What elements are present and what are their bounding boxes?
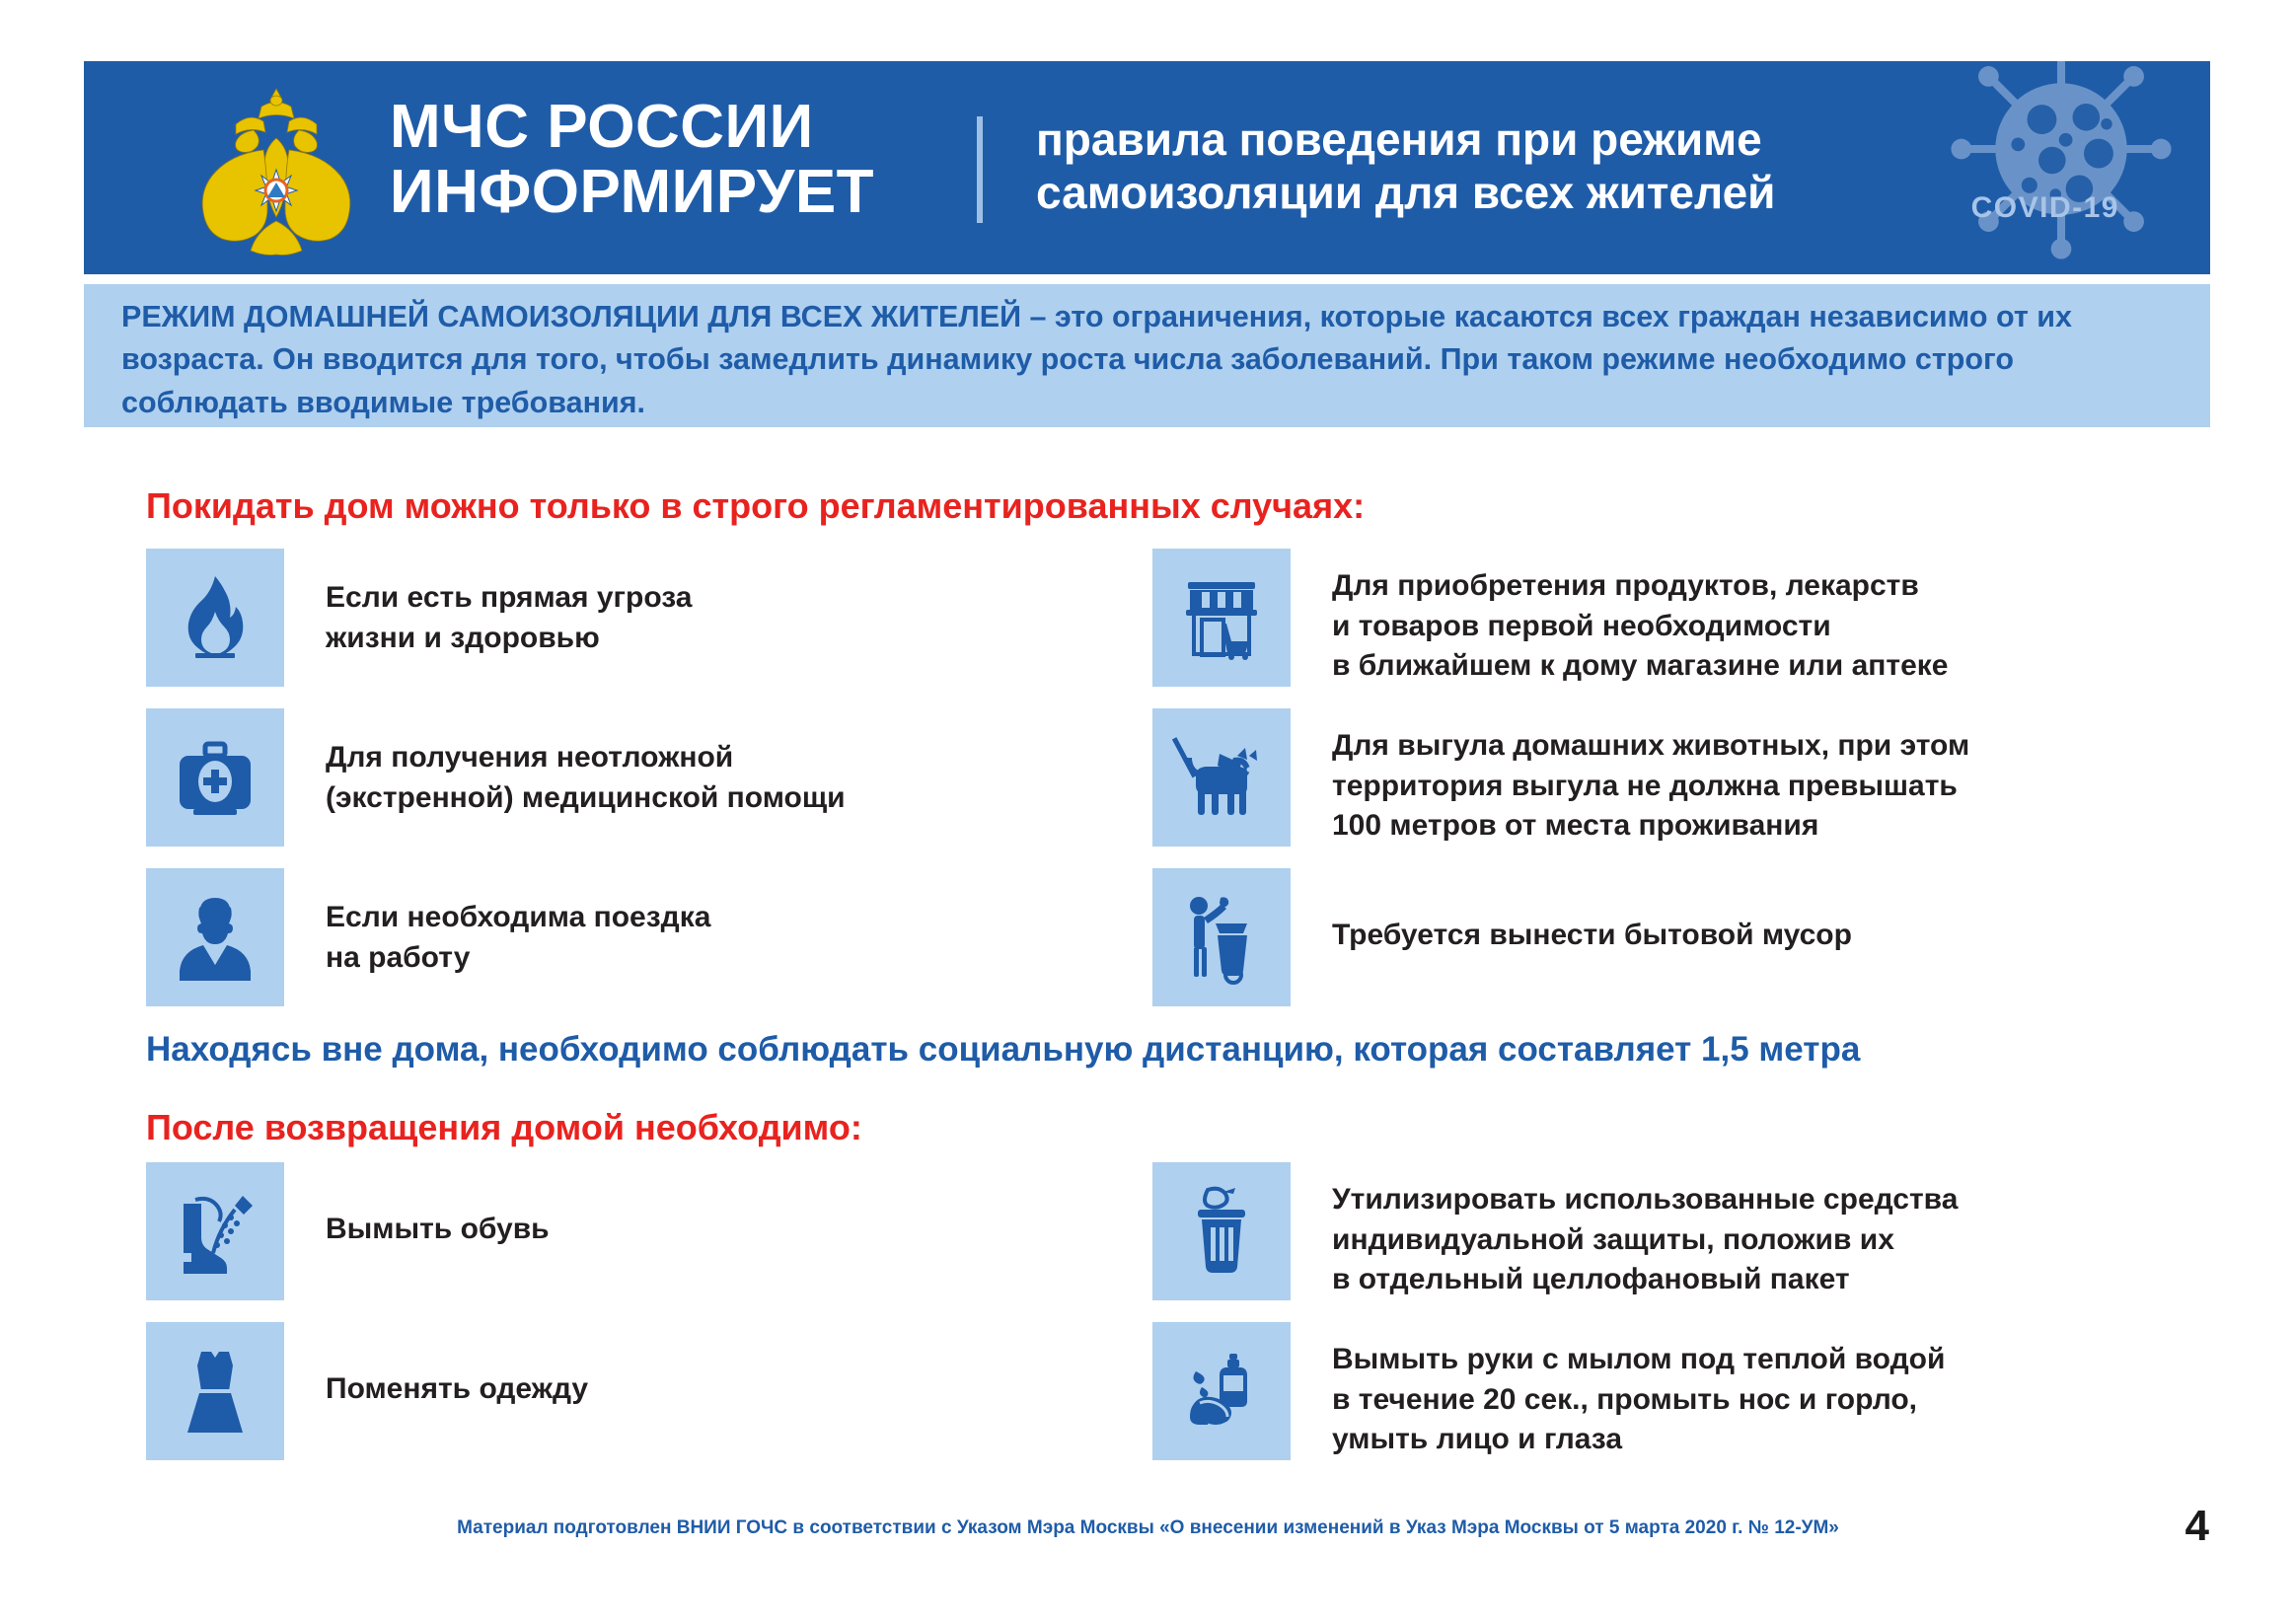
list-item-text: Поменять одежду [326, 1322, 588, 1410]
list-item-work-trip: Если необходима поездка на работу [146, 868, 710, 1006]
businessman-icon [146, 868, 284, 1006]
list-item-threat: Если есть прямая угроза жизни и здоровью [146, 549, 692, 687]
text-line: на работу [326, 938, 710, 979]
list-item-text: Требуется вынести бытовой мусор [1332, 868, 1852, 956]
text-line: Для приобретения продуктов, лекарств [1332, 566, 1948, 607]
text-line: Вымыть обувь [326, 1210, 550, 1250]
text-line: территория выгула не должна превышать [1332, 767, 1969, 807]
title-line-1: МЧС РОССИИ [390, 95, 923, 160]
title-line-2: ИНФОРМИРУЕТ [390, 160, 923, 225]
section-heading-return: После возвращения домой необходимо: [146, 1107, 862, 1148]
list-item-text: Для получения неотложной (экстренной) ме… [326, 708, 846, 818]
text-line: Поменять одежду [326, 1369, 588, 1410]
text-line: в течение 20 сек., промыть нос и горло, [1332, 1380, 1945, 1421]
list-item-text: Вымыть руки с мылом под теплой водой в т… [1332, 1322, 1945, 1460]
mchs-eagle-emblem-icon [192, 83, 360, 256]
footer-credit: Материал подготовлен ВНИИ ГОЧС в соответ… [457, 1517, 1839, 1539]
list-item-dispose-ppe: Утилизировать использованные средства ин… [1152, 1162, 1958, 1300]
text-line: Если необходима поездка [326, 898, 710, 938]
dog-on-leash-icon [1152, 708, 1291, 847]
text-line: Требуется вынести бытовой мусор [1332, 916, 1852, 956]
header-subtitle: правила поведения при режиме самоизоляци… [1036, 112, 2023, 220]
text-line: индивидуальной защиты, положив их [1332, 1220, 1958, 1261]
person-throwing-trash-icon [1152, 868, 1291, 1006]
list-item-medical: Для получения неотложной (экстренной) ме… [146, 708, 846, 847]
text-line: Для выгула домашних животных, при этом [1332, 726, 1969, 767]
list-item-wash-hands: Вымыть руки с мылом под теплой водой в т… [1152, 1322, 1945, 1460]
subtitle-line-1: правила поведения при режиме [1036, 112, 2023, 166]
text-line: умыть лицо и глаза [1332, 1420, 1945, 1460]
text-line: (экстренной) медицинской помощи [326, 778, 846, 819]
intro-box: РЕЖИМ ДОМАШНЕЙ САМОИЗОЛЯЦИИ ДЛЯ ВСЕХ ЖИТ… [84, 284, 2210, 427]
infographic-page: МЧС РОССИИ ИНФОРМИРУЕТ правила поведения… [0, 0, 2296, 1624]
list-item-change-clothes: Поменять одежду [146, 1322, 588, 1460]
text-line: и товаров первой необходимости [1332, 607, 1948, 647]
text-line: жизни и здоровью [326, 619, 692, 659]
list-item-text: Для выгула домашних животных, при этом т… [1332, 708, 1969, 847]
list-item-trash: Требуется вынести бытовой мусор [1152, 868, 1852, 1006]
dress-icon [146, 1322, 284, 1460]
list-item-text: Если необходима поездка на работу [326, 868, 710, 978]
storefront-icon [1152, 549, 1291, 687]
header-banner: МЧС РОССИИ ИНФОРМИРУЕТ правила поведения… [84, 61, 2210, 274]
text-line: в отдельный целлофановый пакет [1332, 1260, 1958, 1300]
page-number: 4 [2185, 1502, 2209, 1551]
list-item-text: Для приобретения продуктов, лекарств и т… [1332, 549, 1948, 687]
subtitle-line-2: самоизоляции для всех жителей [1036, 166, 2023, 219]
trash-bin-mask-icon [1152, 1162, 1291, 1300]
footer: Материал подготовлен ВНИИ ГОЧС в соответ… [0, 1517, 2296, 1539]
list-item-text: Утилизировать использованные средства ин… [1332, 1162, 1958, 1300]
header-divider [977, 116, 983, 223]
text-line: 100 метров от места проживания [1332, 806, 1969, 847]
list-item-text: Если есть прямая угроза жизни и здоровью [326, 549, 692, 658]
text-line: в ближайшем к дому магазине или аптеке [1332, 646, 1948, 687]
list-item-dog-walking: Для выгула домашних животных, при этом т… [1152, 708, 1969, 847]
text-line: Утилизировать использованные средства [1332, 1180, 1958, 1220]
boot-washing-icon [146, 1162, 284, 1300]
text-line: Вымыть руки с мылом под теплой водой [1332, 1340, 1945, 1380]
handwashing-icon [1152, 1322, 1291, 1460]
flame-icon [146, 549, 284, 687]
header-title: МЧС РОССИИ ИНФОРМИРУЕТ [390, 95, 923, 226]
list-item-text: Вымыть обувь [326, 1162, 550, 1250]
covid-label: COVID-19 [1971, 191, 2119, 225]
text-line: Если есть прямая угроза [326, 578, 692, 619]
intro-bold: РЕЖИМ ДОМАШНЕЙ САМОИЗОЛЯЦИИ ДЛЯ ВСЕХ ЖИТ… [121, 300, 1021, 333]
section-heading-distance: Находясь вне дома, необходимо соблюдать … [146, 1030, 1860, 1070]
list-item-shopping: Для приобретения продуктов, лекарств и т… [1152, 549, 1948, 687]
section-heading-leave: Покидать дом можно только в строго регла… [146, 485, 1365, 527]
list-item-wash-shoes: Вымыть обувь [146, 1162, 550, 1300]
text-line: Для получения неотложной [326, 738, 846, 778]
intro-paragraph: РЕЖИМ ДОМАШНЕЙ САМОИЗОЛЯЦИИ ДЛЯ ВСЕХ ЖИТ… [121, 296, 2181, 424]
first-aid-kit-icon [146, 708, 284, 847]
